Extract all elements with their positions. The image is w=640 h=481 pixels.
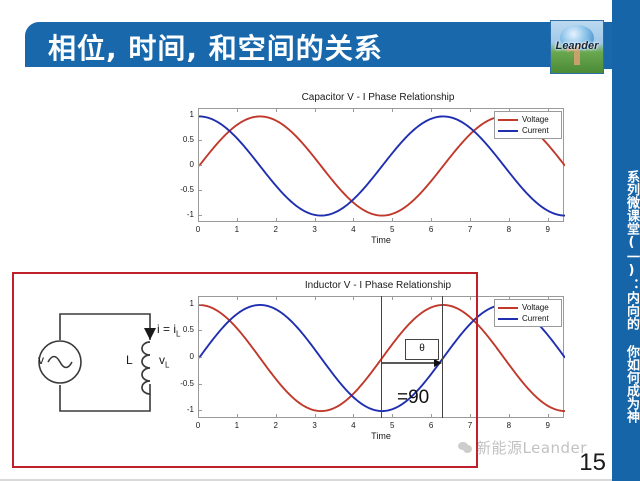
y-tick-mark	[198, 215, 202, 216]
phase-marker-line-left	[381, 296, 382, 418]
legend-item: Current	[498, 125, 557, 136]
x-tick-label: 9	[542, 225, 554, 234]
y-tick-mark	[198, 115, 202, 116]
circuit-svg	[38, 300, 178, 425]
inductor-circuit-diagram: v L vL i = iL	[38, 300, 178, 425]
x-tick-mark	[470, 218, 471, 222]
y-tick-mark	[198, 165, 202, 166]
x-tick-mark	[431, 108, 432, 112]
page-title: 相位, 时间, 和空间的关系	[48, 27, 383, 67]
chart-capacitor: Capacitor V - I Phase Relationship 10.50…	[168, 92, 588, 252]
x-tick-mark	[509, 414, 510, 418]
x-tick-label: 8	[503, 421, 515, 430]
x-tick-label: 1	[231, 225, 243, 234]
x-tick-label: 5	[386, 225, 398, 234]
inductor-voltage-sub: L	[165, 360, 169, 369]
y-tick-label: 0.5	[172, 135, 194, 144]
y-tick-label: -0.5	[172, 185, 194, 194]
x-tick-label: 8	[503, 225, 515, 234]
chart-legend: VoltageCurrent	[494, 111, 562, 139]
x-tick-label: 4	[347, 225, 359, 234]
x-tick-mark	[276, 218, 277, 222]
theta-annotation-box: θ	[405, 339, 439, 360]
page-number: 15	[579, 449, 606, 477]
x-tick-mark	[392, 218, 393, 222]
right-sidebar: 系列微课堂(一)：内向的 你如何成为神	[612, 0, 640, 481]
x-tick-mark	[276, 108, 277, 112]
legend-swatch	[498, 307, 518, 309]
watermark: 新能源Leander	[458, 437, 587, 458]
inductor-voltage-label: vL	[159, 353, 169, 369]
x-tick-label: 0	[192, 225, 204, 234]
x-tick-mark	[353, 108, 354, 112]
y-tick-label: -1	[172, 210, 194, 219]
legend-label: Voltage	[522, 303, 549, 312]
y-tick-label: 0	[172, 160, 194, 169]
leander-logo: Leander	[550, 20, 604, 74]
source-label: v	[38, 353, 44, 367]
x-tick-mark	[353, 218, 354, 222]
legend-swatch	[498, 119, 518, 121]
x-tick-mark	[431, 218, 432, 222]
x-tick-mark	[198, 218, 199, 222]
x-tick-mark	[548, 414, 549, 418]
x-tick-mark	[315, 218, 316, 222]
wechat-icon	[458, 441, 473, 454]
y-tick-label: 1	[172, 110, 194, 119]
legend-item: Current	[498, 313, 557, 324]
x-tick-mark	[237, 108, 238, 112]
legend-item: Voltage	[498, 302, 557, 313]
legend-swatch	[498, 130, 518, 132]
legend-swatch	[498, 318, 518, 320]
slide-canvas: 相位, 时间, 和空间的关系 Leander 系列微课堂(一)：内向的 你如何成…	[0, 0, 640, 481]
current-label-main: i = i	[157, 322, 176, 336]
x-tick-label: 9	[542, 421, 554, 430]
x-tick-mark	[509, 218, 510, 222]
current-label: i = iL	[157, 322, 180, 338]
legend-item: Voltage	[498, 114, 557, 125]
y-tick-mark	[198, 140, 202, 141]
legend-label: Voltage	[522, 115, 549, 124]
phase-value-label: =90	[397, 387, 429, 409]
x-tick-label: 3	[309, 225, 321, 234]
x-tick-mark	[198, 108, 199, 112]
x-tick-mark	[470, 108, 471, 112]
current-label-sub: L	[176, 329, 180, 338]
x-tick-mark	[315, 108, 316, 112]
y-tick-mark	[198, 190, 202, 191]
x-tick-label: 6	[425, 225, 437, 234]
chart-capacitor-title: Capacitor V - I Phase Relationship	[168, 92, 588, 103]
phase-marker-line-right	[442, 296, 443, 418]
x-tick-label: 7	[464, 225, 476, 234]
x-tick-label: 2	[270, 225, 282, 234]
inductor-label: L	[126, 353, 133, 367]
logo-wordmark: Leander	[554, 40, 600, 52]
legend-label: Current	[522, 314, 549, 323]
x-axis-label: Time	[198, 235, 564, 245]
x-tick-mark	[392, 108, 393, 112]
chart-legend: VoltageCurrent	[494, 299, 562, 327]
sidebar-vertical-text: 系列微课堂(一)：内向的 你如何成为神	[614, 170, 638, 423]
x-tick-mark	[548, 218, 549, 222]
legend-label: Current	[522, 126, 549, 135]
x-tick-mark	[237, 218, 238, 222]
watermark-text: 新能源Leander	[476, 437, 587, 458]
